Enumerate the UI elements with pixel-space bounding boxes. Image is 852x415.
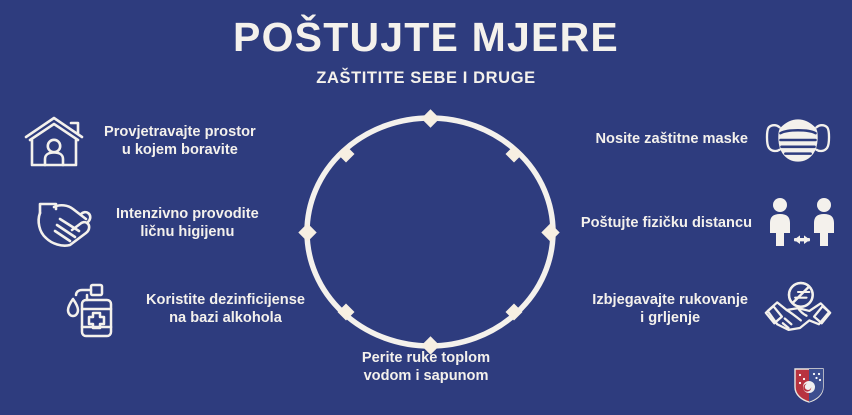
house-with-person-icon — [18, 110, 90, 174]
person-right — [814, 198, 834, 246]
poster-header: POŠTUJTE MJERE ZAŠTITITE SEBE I DRUGE — [0, 16, 852, 88]
circle-dot — [506, 146, 523, 163]
circle-dot — [298, 223, 316, 241]
measure-item-mask: Nosite zaštitne maske — [596, 108, 835, 172]
measure-item-distance: Poštujte fizičku distancu — [581, 192, 838, 256]
measure-label-line2: vodom i sapunom — [0, 368, 852, 386]
measure-item-wash-hands: Perite ruke toplom vodom i sapunom — [0, 350, 852, 386]
measure-label-line1: Provjetravajte prostor — [104, 124, 256, 142]
measure-label-line1: Izbjegavajte rukovanje — [592, 292, 748, 310]
institution-shield-emblem — [794, 367, 824, 403]
measure-label-wash-hands: Perite ruke toplom vodom i sapunom — [0, 350, 852, 386]
person-left — [770, 198, 790, 246]
circle-dot — [421, 109, 439, 127]
measure-label-hygiene: Intenzivno provodite ličnu higijenu — [102, 206, 259, 242]
measure-label-line2: u kojem boravite — [104, 142, 256, 160]
infographic-poster: POŠTUJTE MJERE ZAŠTITITE SEBE I DRUGE — [0, 0, 852, 415]
measure-label-distance: Poštujte fizičku distancu — [581, 215, 766, 233]
no-handshake-icon — [762, 278, 834, 342]
measure-label-line2: ličnu higijenu — [116, 224, 259, 242]
distance-arrow — [794, 235, 810, 244]
central-circle-graphic — [296, 108, 564, 356]
measure-label-line2: na bazi alkohola — [146, 310, 305, 328]
physical-distance-icon — [766, 192, 838, 256]
measure-label-mask: Nosite zaštitne maske — [596, 131, 763, 149]
page-subtitle: ZAŠTITITE SEBE I DRUGE — [0, 69, 852, 88]
hand-sanitizer-bottle-icon — [60, 278, 132, 342]
measure-label-line1: Intenzivno provodite — [116, 206, 259, 224]
measure-item-sanitizer: Koristite dezinficijense na bazi alkohol… — [60, 278, 305, 342]
measure-item-ventilate: Provjetravajte prostor u kojem boravite — [18, 110, 256, 174]
circle-svg — [296, 108, 564, 356]
circle-dot — [338, 146, 355, 163]
circle-dot-group — [298, 109, 559, 354]
measure-item-hygiene: Intenzivno provodite ličnu higijenu — [30, 192, 259, 256]
measure-label-line2: i grljenje — [592, 310, 748, 328]
measure-label-handshake: Izbjegavajte rukovanje i grljenje — [592, 292, 762, 328]
circle-dot — [541, 223, 559, 241]
measure-label-sanitizer: Koristite dezinficijense na bazi alkohol… — [132, 292, 305, 328]
measure-label-ventilate: Provjetravajte prostor u kojem boravite — [90, 124, 256, 160]
measure-label-line1: Perite ruke toplom — [0, 350, 852, 368]
measure-label-line1: Poštujte fizičku distancu — [581, 215, 752, 233]
measure-label-line1: Koristite dezinficijense — [146, 292, 305, 310]
face-mask-icon — [762, 108, 834, 172]
washing-hands-icon — [30, 192, 102, 256]
page-title: POŠTUJTE MJERE — [0, 16, 852, 59]
measure-label-line1: Nosite zaštitne maske — [596, 131, 749, 149]
prohibition-sign — [789, 283, 813, 307]
measure-item-handshake: Izbjegavajte rukovanje i grljenje — [592, 278, 834, 342]
